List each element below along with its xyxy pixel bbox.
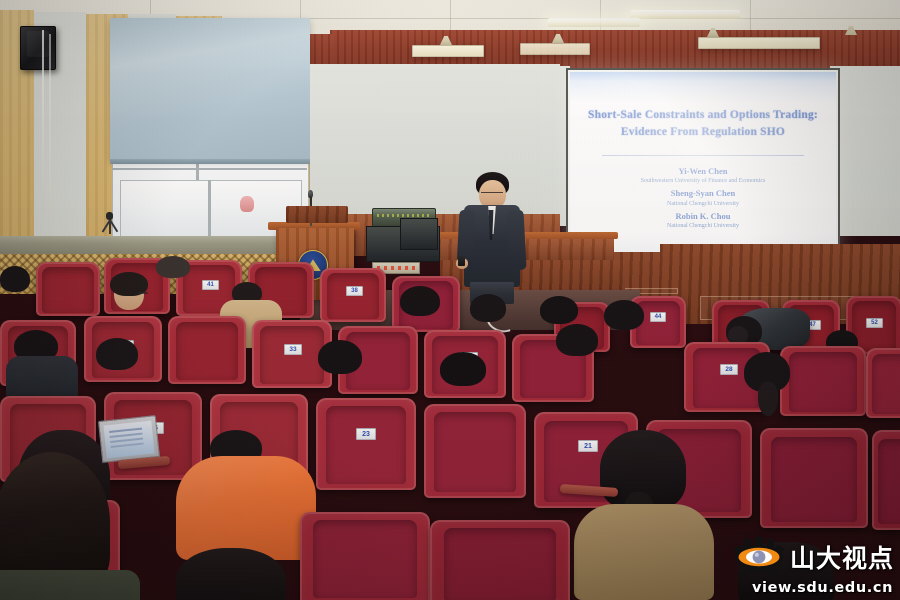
torso <box>0 570 140 600</box>
presenter-arm-right <box>506 210 526 271</box>
seat[interactable]: 23 <box>316 398 416 490</box>
microphone-head-icon <box>308 190 313 198</box>
seat[interactable] <box>36 262 100 316</box>
presentation-slide: Short-Sale Constraints and Options Tradi… <box>570 72 836 256</box>
hair <box>0 266 30 292</box>
seat[interactable] <box>780 346 866 416</box>
hair <box>556 324 598 356</box>
microphone-stand <box>100 212 118 234</box>
seat-number-plate: 52 <box>866 318 883 328</box>
seat-number-plate: 21 <box>578 440 598 452</box>
decorative-object <box>240 196 254 212</box>
presentation-clicker <box>458 256 465 266</box>
author-name: Robin K. Chou <box>586 211 820 222</box>
slide-divider <box>602 155 804 156</box>
author-affiliation: National Chengchi University <box>586 222 820 231</box>
podium-monitor <box>286 206 348 223</box>
slide-title: Short-Sale Constraints and Options Tradi… <box>581 107 826 140</box>
author-affiliation: Southwestern University of Finance and E… <box>586 177 820 186</box>
hair <box>176 548 286 600</box>
eyeglasses-icon <box>481 192 503 196</box>
seat[interactable] <box>872 430 900 530</box>
hair <box>540 296 578 324</box>
torso <box>176 456 316 560</box>
hair-ponytail <box>758 382 778 416</box>
hair <box>318 340 362 374</box>
seat[interactable] <box>168 316 246 384</box>
seat[interactable] <box>300 512 430 600</box>
hair <box>96 338 138 370</box>
seat[interactable] <box>866 348 900 418</box>
author-name: Yi-Wen Chen <box>586 166 820 177</box>
eyeglasses-icon <box>138 292 148 294</box>
seat-number-plate: 38 <box>346 286 363 296</box>
author-name: Sheng-Syan Chen <box>586 188 820 199</box>
hair <box>156 256 190 278</box>
window-blind <box>110 18 310 160</box>
seat-number-plate: 33 <box>284 344 302 355</box>
laptop-screen <box>104 420 154 458</box>
amplifier-rack-2 <box>400 218 438 250</box>
seat[interactable] <box>424 404 526 498</box>
seat[interactable] <box>760 428 868 528</box>
hanging-light-strip <box>698 37 820 49</box>
ceiling-light-panel <box>548 18 640 27</box>
slide-title-line-2: Evidence From Regulation SHO <box>581 124 826 141</box>
window-center <box>120 180 302 242</box>
window-mullion <box>208 180 211 240</box>
window-mullion <box>112 168 307 170</box>
hair <box>738 542 834 600</box>
hanging-light-strip <box>520 43 590 55</box>
torso <box>570 500 750 600</box>
hanging-light-strip <box>412 45 484 57</box>
presenter <box>452 172 532 304</box>
ceiling-light-panel <box>630 10 740 19</box>
window-sill <box>0 236 312 254</box>
seat-number-plate: 28 <box>720 364 738 375</box>
blind-pull-cord <box>49 34 51 234</box>
speaker-cord <box>42 30 44 210</box>
seat-number-plate: 41 <box>202 280 219 290</box>
seat-number-plate: 23 <box>356 428 376 440</box>
hair <box>400 286 440 316</box>
seat[interactable] <box>430 520 570 600</box>
seat-number-plate: 44 <box>650 312 666 322</box>
hair <box>440 352 486 386</box>
slide-author-block: Yi-Wen Chen Southwestern University of F… <box>586 166 820 233</box>
hair <box>604 300 644 330</box>
seat[interactable]: 38 <box>320 268 386 322</box>
author-affiliation: National Chengchi University <box>586 200 820 209</box>
hair <box>470 294 506 322</box>
auditorium-lecture-photograph: Short-Sale Constraints and Options Tradi… <box>0 0 900 600</box>
slide-title-line-1: Short-Sale Constraints and Options Tradi… <box>581 107 826 124</box>
laptop[interactable] <box>98 415 160 463</box>
front-wall-pale-right <box>830 66 900 236</box>
